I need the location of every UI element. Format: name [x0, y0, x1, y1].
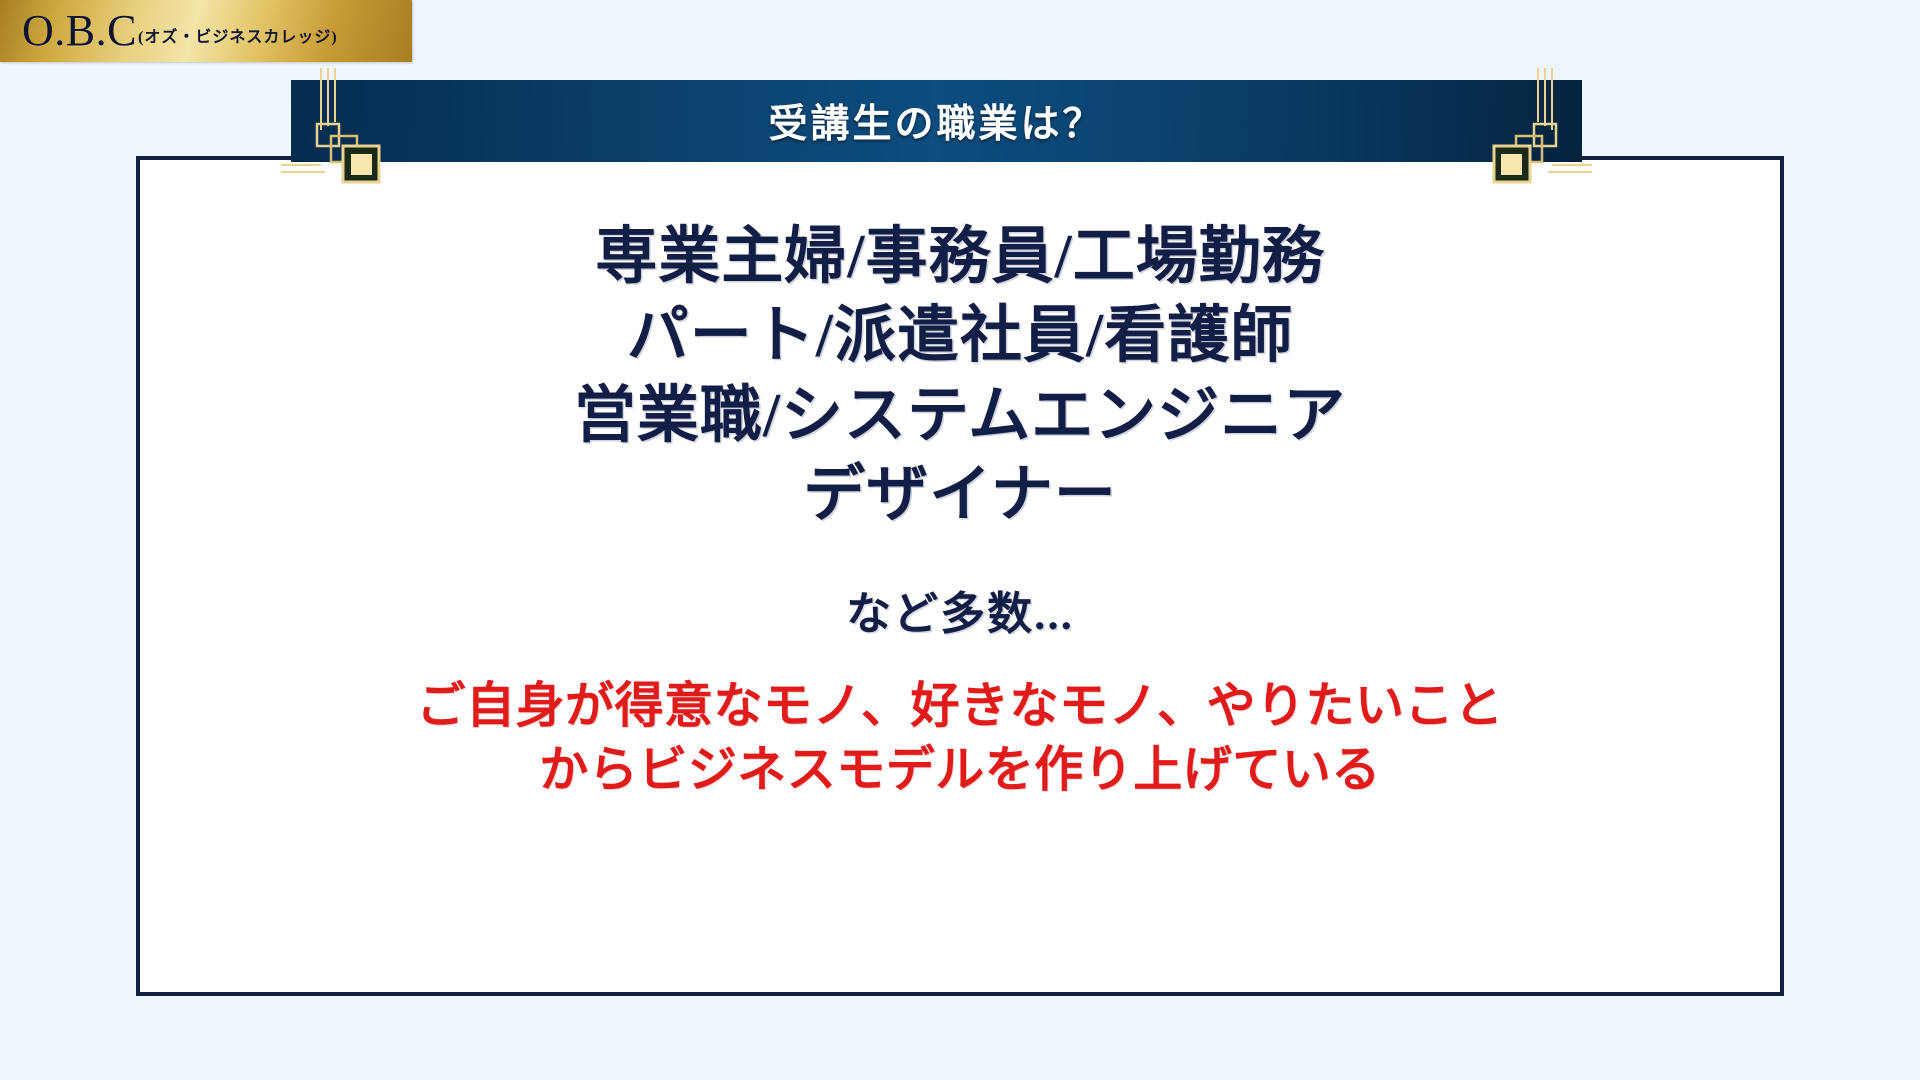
job-line: 営業職/システムエンジニア [574, 377, 1346, 456]
section-header-banner: 受講生の職業は？ [291, 80, 1582, 162]
job-line: パート/派遣社員/看護師 [627, 297, 1293, 376]
header-title: 受講生の職業は？ [768, 93, 1104, 149]
highlight-block: ご自身が得意なモノ、好きなモノ、やりたいこと からビジネスモデルを作り上げている [416, 674, 1503, 801]
highlight-line: からビジネスモデルを作り上げている [416, 738, 1503, 802]
etc-label: など多数... [846, 577, 1074, 642]
obc-logo-banner: O.B.C (オズ・ビジネスカレッジ) [0, 0, 412, 62]
job-line: デザイナー [803, 456, 1117, 535]
content-card: 専業主婦/事務員/工場勤務 パート/派遣社員/看護師 営業職/システムエンジニア… [136, 156, 1784, 996]
logo-sub-text: (オズ・ビジネスカレッジ) [138, 23, 338, 47]
logo-main-text: O.B.C [22, 9, 137, 53]
job-line: 専業主婦/事務員/工場勤務 [595, 218, 1324, 297]
highlight-line: ご自身が得意なモノ、好きなモノ、やりたいこと [416, 674, 1503, 738]
